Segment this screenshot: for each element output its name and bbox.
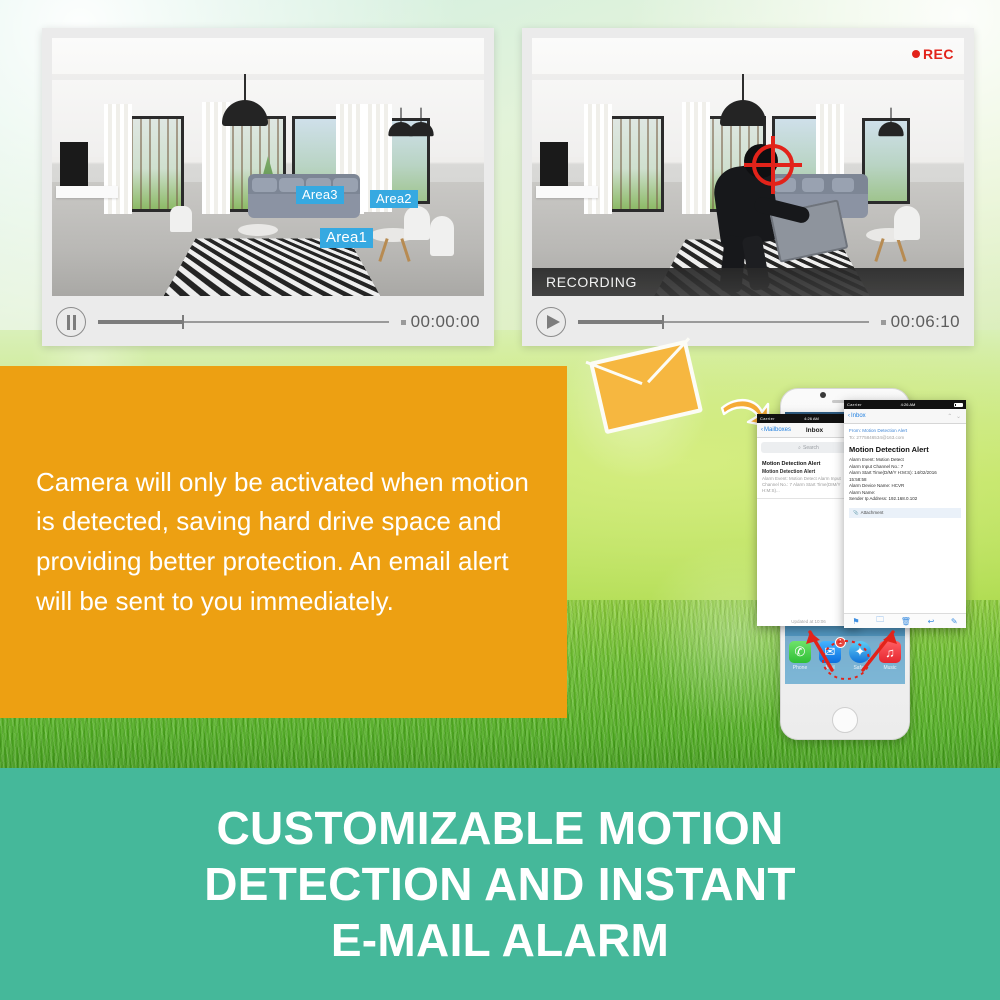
attachment-row[interactable]: 📎 Attachment xyxy=(849,508,961,518)
rec-indicator: REC xyxy=(912,46,954,62)
player-controls-left[interactable]: 00:00:00 xyxy=(42,298,494,346)
timecode-marker-icon-right xyxy=(881,320,886,325)
description-panel: Camera will only be activated when motio… xyxy=(0,366,567,718)
detail-to-line: To: 2775846534@163.com xyxy=(849,435,961,440)
living-room-scene-intruder xyxy=(532,38,964,296)
pendant-lamp-main-r xyxy=(720,74,766,130)
mail-preview: Alarm Event: Motion Detect Alarm Input C… xyxy=(762,476,855,494)
back-to-inbox-button[interactable]: ‹Inbox xyxy=(848,413,866,419)
detail-nav-bar: ‹Inbox ⌃ ⌄ xyxy=(844,409,966,424)
reply-icon[interactable]: ↩ xyxy=(928,617,935,626)
body-line-6: Sender Ip Address: 192.168.0.102 xyxy=(849,496,961,503)
search-icon: ⌕ xyxy=(798,445,801,451)
trash-icon[interactable]: 🗑 xyxy=(901,617,911,626)
area-badge-2[interactable]: Area2 xyxy=(370,190,418,208)
recording-status-label: RECORDING xyxy=(546,274,637,290)
inbox-title: Inbox xyxy=(806,427,823,434)
living-room-scene xyxy=(52,38,484,296)
chair-2r xyxy=(894,206,920,240)
compose-icon[interactable]: ✎ xyxy=(951,617,958,626)
video-frame-right: REC RECORDING xyxy=(532,38,964,296)
headline-line-1: CUSTOMIZABLE MOTION xyxy=(216,802,783,854)
chair-1 xyxy=(170,206,192,232)
description-paragraph: Camera will only be activated when motio… xyxy=(0,463,567,621)
back-label: Mailboxes xyxy=(764,427,791,433)
target-crosshair-icon xyxy=(744,136,802,194)
play-button[interactable] xyxy=(536,307,566,337)
pendant-lamp-2 xyxy=(394,108,408,127)
back-label-detail: Inbox xyxy=(851,413,866,419)
pause-button[interactable] xyxy=(56,307,86,337)
status-time-detail: 4:26 AM xyxy=(901,402,916,407)
detail-body: Alarm Event: Motion Detect Alarm Input C… xyxy=(844,457,966,503)
headline: CUSTOMIZABLE MOTION DETECTION AND INSTAN… xyxy=(204,800,796,968)
detail-subject: Motion Detection Alert xyxy=(844,443,966,457)
mail-subject: Motion Detection Alert xyxy=(762,469,855,475)
headline-line-3: E-MAIL ALARM xyxy=(331,914,669,966)
back-to-mailboxes-button[interactable]: ‹Mailboxes xyxy=(761,427,791,433)
video-player-right[interactable]: REC RECORDING 00:06:10 xyxy=(522,28,974,346)
pendant-lamp-3 xyxy=(414,108,428,127)
search-input[interactable]: ⌕ Search xyxy=(761,442,856,453)
ios-status-bar-detail: Carrier 4:26 AM xyxy=(844,400,966,409)
search-placeholder: Search xyxy=(803,445,819,451)
wall-tv-r xyxy=(540,142,568,186)
timecode-left: 00:00:00 xyxy=(401,312,480,332)
headline-line-2: DETECTION AND INSTANT xyxy=(204,858,796,910)
headline-banner: CUSTOMIZABLE MOTION DETECTION AND INSTAN… xyxy=(0,768,1000,1000)
recording-status-bar: RECORDING xyxy=(532,268,964,296)
carrier-label-detail: Carrier xyxy=(847,402,862,407)
pendant-lamp-2-r xyxy=(884,108,898,127)
coffee-table xyxy=(238,224,278,236)
player-controls-right[interactable]: 00:06:10 xyxy=(522,298,974,346)
rec-dot-icon xyxy=(912,50,920,58)
red-dotted-circle xyxy=(820,638,872,682)
timecode-right: 00:06:10 xyxy=(881,312,960,332)
chair-3 xyxy=(430,216,454,256)
timecode-marker-icon xyxy=(401,320,406,325)
attachment-icon: 📎 xyxy=(853,510,859,516)
video-player-left[interactable]: Area3 Area2 Area1 00:00:00 xyxy=(42,28,494,346)
area-badge-3[interactable]: Area3 xyxy=(296,186,344,204)
sideboard xyxy=(56,186,118,198)
carrier-label: Carrier xyxy=(760,416,775,421)
curtain-b-r xyxy=(682,102,710,214)
detail-header: From: Motion Detection Alert To: 2775846… xyxy=(844,424,966,443)
mail-detail-screen[interactable]: Carrier 4:26 AM ‹Inbox ⌃ ⌄ From: Motion … xyxy=(844,400,966,628)
pendant-lamp-main xyxy=(222,74,268,130)
progress-track-left[interactable] xyxy=(98,315,389,329)
chair-2 xyxy=(404,206,430,240)
front-camera-icon xyxy=(820,392,826,398)
status-time-list: 4:26 AM xyxy=(804,416,819,421)
attachment-label: Attachment xyxy=(861,510,884,515)
area-badge-1[interactable]: Area1 xyxy=(320,228,373,248)
home-button[interactable] xyxy=(832,707,858,733)
video-frame-left: Area3 Area2 Area1 xyxy=(52,38,484,296)
battery-icon-detail xyxy=(954,403,963,407)
wall-tv xyxy=(60,142,88,186)
detail-from-line: From: Motion Detection Alert xyxy=(849,428,961,433)
sideboard-r xyxy=(536,186,598,198)
progress-track-right[interactable] xyxy=(578,315,869,329)
mail-from: Motion Detection Alert xyxy=(762,461,855,467)
message-nav-chevrons[interactable]: ⌃ ⌄ xyxy=(947,413,962,420)
